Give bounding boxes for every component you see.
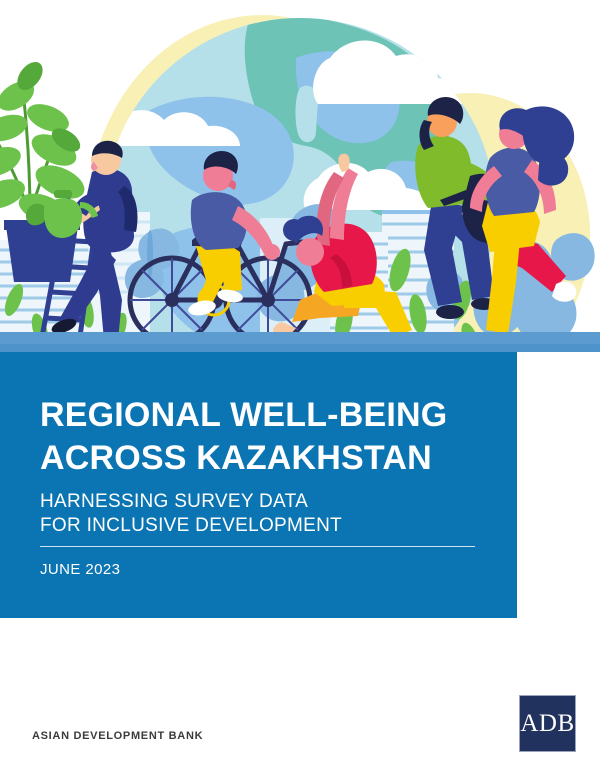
title-block: REGIONAL WELL-BEING ACROSS KAZAKHSTAN HA… (40, 394, 480, 578)
title-banner: REGIONAL WELL-BEING ACROSS KAZAKHSTAN HA… (0, 352, 517, 618)
page-title-line2: ACROSS KAZAKHSTAN (40, 437, 480, 480)
adb-logo-text: ADB (520, 711, 574, 736)
report-cover-page: REGIONAL WELL-BEING ACROSS KAZAKHSTAN HA… (0, 0, 600, 776)
publisher-name: ASIAN DEVELOPMENT BANK (32, 730, 203, 742)
title-divider-rule (40, 546, 475, 547)
page-subtitle-line2: FOR INCLUSIVE DEVELOPMENT (40, 514, 480, 538)
adb-logo: ADB (519, 695, 576, 752)
page-subtitle: HARNESSING SURVEY DATA FOR INCLUSIVE DEV… (40, 490, 480, 538)
publication-date: JUNE 2023 (40, 561, 480, 578)
page-title-line1: REGIONAL WELL-BEING (40, 394, 480, 437)
cover-illustration (0, 0, 600, 352)
page-subtitle-line1: HARNESSING SURVEY DATA (40, 490, 480, 514)
